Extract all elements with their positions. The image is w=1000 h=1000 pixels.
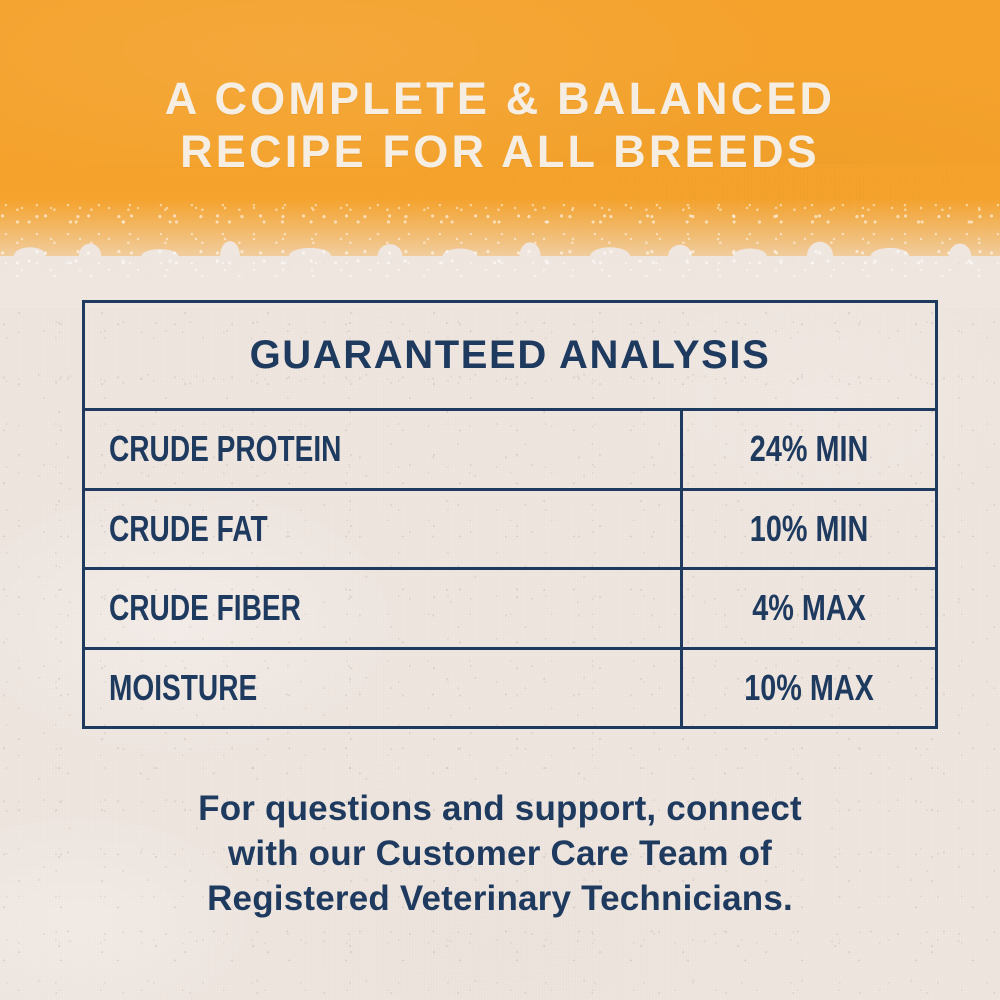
nutrient-name: CRUDE FIBER (109, 587, 301, 629)
nutrient-name-cell: CRUDE FIBER (85, 570, 683, 647)
nutrient-value: 4% MAX (752, 587, 866, 629)
guaranteed-analysis-title-row: GUARANTEED ANALYSIS (85, 303, 935, 411)
nutrient-value-cell: 24% MIN (683, 411, 935, 488)
nutrient-value-cell: 10% MAX (683, 650, 935, 727)
nutrient-value: 10% MIN (750, 508, 868, 550)
guaranteed-analysis-rows: CRUDE PROTEIN 24% MIN CRUDE FAT 10% MIN … (85, 411, 935, 726)
nutrient-value: 10% MAX (744, 667, 874, 709)
nutrient-value-cell: 10% MIN (683, 491, 935, 568)
headline-line-1: A COMPLETE & BALANCED (0, 72, 1000, 125)
nutrient-name-cell: CRUDE PROTEIN (85, 411, 683, 488)
nutrient-name: CRUDE PROTEIN (109, 428, 341, 470)
support-copy-line-1: For questions and support, connect (60, 786, 940, 831)
table-row: CRUDE FAT 10% MIN (85, 491, 935, 571)
support-copy-line-3: Registered Veterinary Technicians. (60, 876, 940, 921)
table-row: CRUDE PROTEIN 24% MIN (85, 411, 935, 491)
nutrient-value-cell: 4% MAX (683, 570, 935, 647)
nutrient-name-cell: CRUDE FAT (85, 491, 683, 568)
nutrient-value: 24% MIN (750, 428, 868, 470)
table-row: MOISTURE 10% MAX (85, 650, 935, 727)
torn-paper-edge-notches (0, 186, 1000, 256)
nutrient-name: CRUDE FAT (109, 508, 268, 550)
nutrient-name: MOISTURE (109, 667, 257, 709)
support-copy-line-2: with our Customer Care Team of (60, 831, 940, 876)
headline: A COMPLETE & BALANCED RECIPE FOR ALL BRE… (0, 72, 1000, 178)
guaranteed-analysis-table: GUARANTEED ANALYSIS CRUDE PROTEIN 24% MI… (82, 300, 938, 729)
pet-food-label-panel: A COMPLETE & BALANCED RECIPE FOR ALL BRE… (0, 0, 1000, 1000)
table-row: CRUDE FIBER 4% MAX (85, 570, 935, 650)
guaranteed-analysis-title: GUARANTEED ANALYSIS (250, 333, 771, 378)
customer-support-copy: For questions and support, connect with … (60, 786, 940, 921)
headline-line-2: RECIPE FOR ALL BREEDS (0, 125, 1000, 178)
nutrient-name-cell: MOISTURE (85, 650, 683, 727)
